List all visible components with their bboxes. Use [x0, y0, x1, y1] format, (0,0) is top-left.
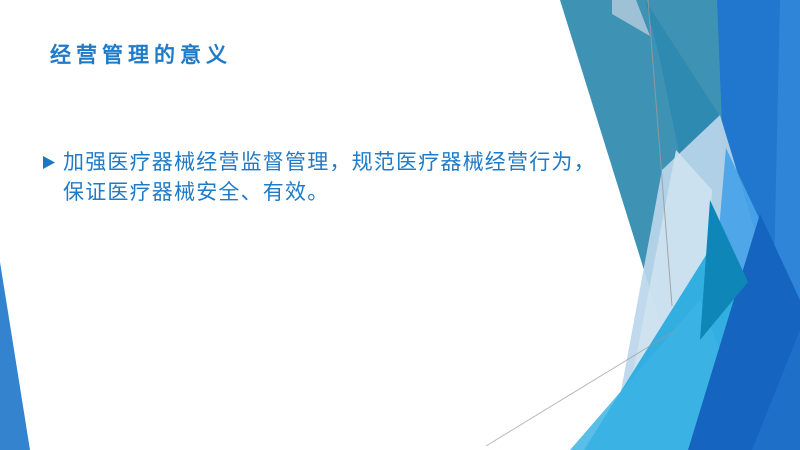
page-title: 经营管理的意义 [50, 42, 232, 69]
slide-content: 经营管理的意义 加强医疗器械经营监督管理，规范医疗器械经营行为，保证医疗器械安全… [0, 0, 800, 450]
triangle-right-bullet-icon [42, 155, 56, 170]
presentation-slide: 经营管理的意义 加强医疗器械经营监督管理，规范医疗器械经营行为，保证医疗器械安全… [0, 0, 800, 450]
bullet-list: 加强医疗器械经营监督管理，规范医疗器械经营行为，保证医疗器械安全、有效。 [42, 148, 602, 208]
list-item: 加强医疗器械经营监督管理，规范医疗器械经营行为，保证医疗器械安全、有效。 [42, 148, 602, 208]
bullet-text: 加强医疗器械经营监督管理，规范医疗器械经营行为，保证医疗器械安全、有效。 [63, 148, 602, 208]
